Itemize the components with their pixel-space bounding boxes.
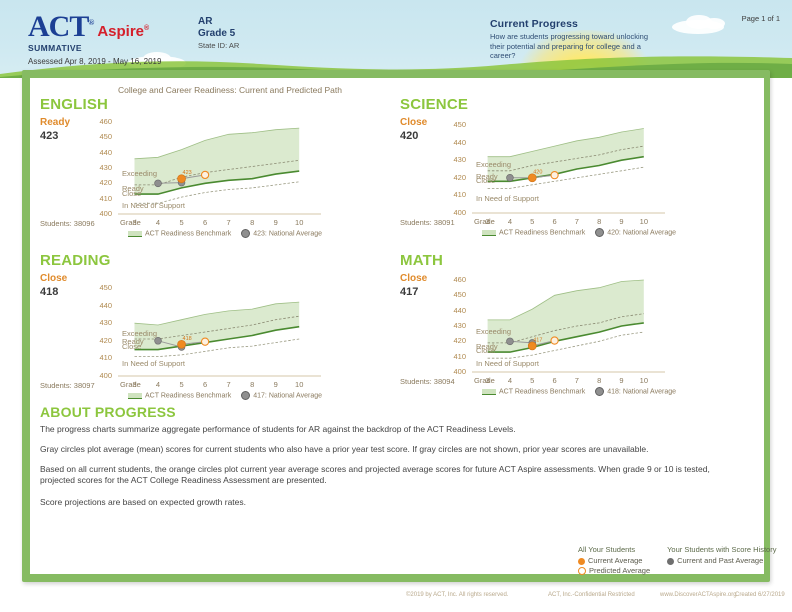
legend-label-benchmark: ACT Readiness Benchmark xyxy=(499,388,585,395)
about-paragraph: Based on all current students, the orang… xyxy=(40,464,740,486)
about-paragraph: The progress charts summarize aggregate … xyxy=(40,424,740,435)
y-axis-tick-label: 450 xyxy=(92,283,112,292)
x-axis-tick-label: 10 xyxy=(292,380,306,389)
about-paragraph: Gray circles plot average (mean) scores … xyxy=(40,444,740,455)
subject-panel-science: SCIENCEClose420 xyxy=(400,96,468,142)
x-axis-title: Grade xyxy=(120,218,141,227)
act-wordmark: ACT® xyxy=(28,10,93,44)
y-axis-tick-label: 430 xyxy=(446,321,466,330)
about-progress-title: ABOUT PROGRESS xyxy=(40,404,176,420)
x-axis-tick-label: 6 xyxy=(198,218,212,227)
y-axis-tick-label: 450 xyxy=(92,132,112,141)
y-axis-tick-label: 440 xyxy=(446,306,466,315)
x-axis-title: Grade xyxy=(474,217,495,226)
assessed-date-range: Assessed Apr 8, 2019 - May 16, 2019 xyxy=(28,57,161,66)
subject-title-english: ENGLISH xyxy=(40,96,108,113)
y-axis-tick-label: 410 xyxy=(446,190,466,199)
y-axis-tick-label: 450 xyxy=(446,120,466,129)
current-progress-subtitle: How are students progressing toward unlo… xyxy=(490,32,650,61)
legend-label-national-average: 420: National Average xyxy=(607,229,676,236)
readiness-band-label: Exceeding xyxy=(476,327,511,336)
y-axis-tick-label: 430 xyxy=(446,155,466,164)
organization-state-id: State ID: AR xyxy=(198,40,239,51)
national-average-marker-icon xyxy=(595,387,604,396)
subject-panel-math: MATHClose417 xyxy=(400,252,443,298)
y-axis-tick-label: 410 xyxy=(446,352,466,361)
x-axis-tick-label: 7 xyxy=(570,376,584,385)
organization-block: AR Grade 5 State ID: AR xyxy=(198,16,239,51)
legend-label-national-average: 423: National Average xyxy=(253,230,322,237)
section-title-ccr: College and Career Readiness: Current an… xyxy=(118,85,342,95)
y-axis-tick-label: 450 xyxy=(446,290,466,299)
x-axis-tick-label: 9 xyxy=(615,217,629,226)
bottom-legend: All Your Students Current Average Predic… xyxy=(578,545,776,576)
aspire-registered-mark: ® xyxy=(144,25,149,32)
aspire-wordmark: Aspire® xyxy=(97,23,149,40)
y-axis-tick-label: 400 xyxy=(446,367,466,376)
readiness-level-math: Close xyxy=(400,273,443,284)
chart-legend-reading: ACT Readiness Benchmark417: National Ave… xyxy=(128,391,322,400)
y-axis-tick-label: 460 xyxy=(92,117,112,126)
x-axis-tick-label: 10 xyxy=(637,376,651,385)
legend-item-predicted-average: Predicted Average xyxy=(578,566,658,576)
act-registered-mark: ® xyxy=(88,18,93,27)
y-axis-tick-label: 420 xyxy=(446,336,466,345)
subject-title-math: MATH xyxy=(400,252,443,269)
chart-legend-science: ACT Readiness Benchmark420: National Ave… xyxy=(482,228,676,237)
x-axis-tick-label: 6 xyxy=(198,380,212,389)
legend-column-all-students: All Your Students Current Average Predic… xyxy=(578,545,658,576)
benchmark-band-swatch xyxy=(482,389,496,395)
readiness-band-label: In Need of Support xyxy=(476,194,539,203)
y-axis-tick-label: 410 xyxy=(92,353,112,362)
y-axis-tick-label: 400 xyxy=(446,208,466,217)
x-axis-tick-label: 9 xyxy=(269,218,283,227)
act-swoosh-icon xyxy=(30,29,56,38)
report-type-label: SUMMATIVE xyxy=(28,43,82,53)
x-axis-tick-label: 5 xyxy=(175,380,189,389)
students-count-science: Students: 38091 xyxy=(400,218,455,227)
about-paragraph: Score projections are based on expected … xyxy=(40,497,740,508)
x-axis-tick-label: 8 xyxy=(245,380,259,389)
students-count-reading: Students: 38097 xyxy=(40,381,95,390)
national-average-marker-icon xyxy=(241,229,250,238)
orange-filled-circle-icon xyxy=(578,558,585,565)
x-axis-tick-label: 6 xyxy=(548,376,562,385)
current-progress-block: Current Progress How are students progre… xyxy=(490,18,650,61)
y-axis-tick-label: 440 xyxy=(446,138,466,147)
footer-copyright: ©2019 by ACT, Inc. All rights reserved. xyxy=(406,592,508,598)
page-number: Page 1 of 1 xyxy=(742,14,780,23)
x-axis-tick-label: 4 xyxy=(151,218,165,227)
legend-label-national-average: 418: National Average xyxy=(607,388,676,395)
x-axis-tick-label: 7 xyxy=(222,218,236,227)
y-axis-tick-label: 400 xyxy=(92,209,112,218)
footer-confidential: ACT, Inc.-Confidential Restricted xyxy=(548,592,635,598)
chart-legend-math: ACT Readiness Benchmark418: National Ave… xyxy=(482,387,676,396)
legend-header-score-history: Your Students with Score History xyxy=(667,545,776,554)
organization-name: AR xyxy=(198,16,239,28)
national-average-marker-icon xyxy=(241,391,250,400)
y-axis-tick-label: 460 xyxy=(446,275,466,284)
x-axis-tick-label: 7 xyxy=(222,380,236,389)
benchmark-band-swatch xyxy=(128,231,142,237)
x-axis-tick-label: 8 xyxy=(245,218,259,227)
readiness-band-label: Close xyxy=(122,189,141,198)
chart-legend-english: ACT Readiness Benchmark423: National Ave… xyxy=(128,229,322,238)
y-axis-tick-label: 440 xyxy=(92,148,112,157)
readiness-band-label: Exceeding xyxy=(122,169,157,178)
readiness-band-label: Close xyxy=(122,342,141,351)
legend-label-benchmark: ACT Readiness Benchmark xyxy=(145,230,231,237)
x-axis-tick-label: 8 xyxy=(592,217,606,226)
y-axis-tick-label: 420 xyxy=(446,173,466,182)
y-axis-tick-label: 420 xyxy=(92,178,112,187)
footer-website: www.DiscoverACTAspire.org xyxy=(660,592,737,598)
national-average-marker-icon xyxy=(595,228,604,237)
gray-filled-circle-icon xyxy=(667,558,674,565)
benchmark-band-swatch xyxy=(482,230,496,236)
x-axis-title: Grade xyxy=(474,376,495,385)
y-axis-tick-label: 440 xyxy=(92,301,112,310)
subject-title-science: SCIENCE xyxy=(400,96,468,113)
subject-title-reading: READING xyxy=(40,252,111,269)
orange-open-circle-icon xyxy=(578,567,586,575)
y-axis-tick-label: 400 xyxy=(92,371,112,380)
organization-grade: Grade 5 xyxy=(198,28,239,40)
x-axis-tick-label: 10 xyxy=(292,218,306,227)
students-count-english: Students: 38096 xyxy=(40,219,95,228)
x-axis-tick-label: 8 xyxy=(592,376,606,385)
legend-item-current-past-average: Current and Past Average xyxy=(667,556,776,566)
average-score-math: 417 xyxy=(400,286,443,298)
legend-label-benchmark: ACT Readiness Benchmark xyxy=(499,229,585,236)
y-axis-tick-label: 410 xyxy=(92,194,112,203)
readiness-band-label: Exceeding xyxy=(476,160,511,169)
cloud-icon xyxy=(703,18,725,29)
footer-created-date: Created 6/27/2019 xyxy=(735,592,785,598)
x-axis-tick-label: 5 xyxy=(175,218,189,227)
readiness-band-label: In Need of Support xyxy=(122,201,185,210)
act-aspire-logo: ACT® Aspire® xyxy=(28,10,149,44)
legend-column-score-history: Your Students with Score History Current… xyxy=(667,545,776,566)
y-axis-tick-label: 430 xyxy=(92,318,112,327)
x-axis-tick-label: 5 xyxy=(525,217,539,226)
benchmark-band-swatch xyxy=(128,393,142,399)
current-progress-title: Current Progress xyxy=(490,18,650,30)
readiness-band-label: Close xyxy=(476,346,495,355)
legend-label-benchmark: ACT Readiness Benchmark xyxy=(145,392,231,399)
x-axis-tick-label: 6 xyxy=(548,217,562,226)
x-axis-tick-label: 5 xyxy=(525,376,539,385)
legend-label-national-average: 417: National Average xyxy=(253,392,322,399)
readiness-band-label: In Need of Support xyxy=(476,359,539,368)
x-axis-tick-label: 10 xyxy=(637,217,651,226)
x-axis-tick-label: 4 xyxy=(503,376,517,385)
x-axis-title: Grade xyxy=(120,380,141,389)
y-axis-tick-label: 420 xyxy=(92,336,112,345)
readiness-band-label: In Need of Support xyxy=(122,359,185,368)
x-axis-tick-label: 4 xyxy=(503,217,517,226)
x-axis-tick-label: 9 xyxy=(269,380,283,389)
legend-item-current-average: Current Average xyxy=(578,556,658,566)
y-axis-tick-label: 430 xyxy=(92,163,112,172)
x-axis-tick-label: 7 xyxy=(570,217,584,226)
page-header: ACT® Aspire® SUMMATIVE Assessed Apr 8, 2… xyxy=(0,0,792,78)
legend-header-all-students: All Your Students xyxy=(578,545,658,554)
x-axis-tick-label: 9 xyxy=(615,376,629,385)
readiness-band-label: Close xyxy=(476,176,495,185)
students-count-math: Students: 38094 xyxy=(400,377,455,386)
x-axis-tick-label: 4 xyxy=(151,380,165,389)
